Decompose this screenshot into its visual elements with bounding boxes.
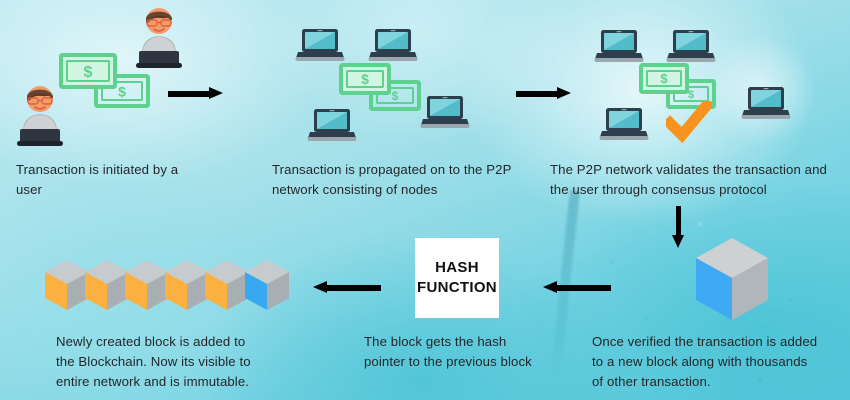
arrow-step3-to-step4	[672, 206, 684, 248]
laptop-icon	[295, 27, 345, 63]
chain-cube	[205, 260, 249, 310]
arrow-step5-to-step6	[313, 281, 381, 293]
hash-function-box: HASH FUNCTION	[415, 238, 499, 318]
step-4-caption: Once verified the transaction is added t…	[592, 332, 850, 392]
step-1-group: $ $	[0, 0, 260, 160]
arrow-shaft	[676, 206, 681, 238]
chain-cube	[85, 260, 129, 310]
laptop-icon	[666, 28, 716, 64]
laptop-icon	[420, 94, 470, 130]
step-2-group: $ $	[283, 0, 533, 160]
cube-3d-icon	[692, 236, 772, 327]
chain-cube	[45, 260, 89, 310]
svg-text:$: $	[118, 84, 126, 100]
arrow-step4-to-step5	[543, 281, 611, 293]
step-2-caption: Transaction is propagated on to the P2P …	[272, 160, 542, 200]
arrow-shaft	[554, 285, 611, 291]
laptop-icon	[741, 85, 791, 121]
svg-text:$: $	[361, 71, 369, 87]
svg-text:$: $	[84, 64, 93, 81]
money-banknotes-icon: $ $	[58, 52, 152, 115]
svg-text:$: $	[660, 71, 668, 86]
infographic-canvas: $ $ Transaction is initiate	[0, 0, 850, 400]
arrow-shaft	[324, 285, 381, 291]
step-5-caption: The block gets the hash pointer to the p…	[364, 332, 574, 372]
person-with-laptop-icon	[14, 84, 66, 146]
arrow-shaft	[168, 91, 212, 97]
arrow-step2-to-step3	[516, 87, 571, 99]
arrow-step1-to-step2	[168, 87, 223, 99]
hash-function-line-2: FUNCTION	[417, 278, 497, 298]
arrow-head	[672, 235, 684, 248]
step-4-group	[692, 236, 772, 327]
laptop-icon	[307, 107, 357, 143]
chain-cube	[125, 260, 169, 310]
arrow-shaft	[516, 91, 560, 97]
step-3-group: $ $	[566, 0, 850, 160]
laptop-icon	[368, 27, 418, 63]
step-3-caption: The P2P network validates the transactio…	[550, 160, 850, 200]
hash-function-line-1: HASH	[435, 258, 479, 278]
step-1-caption: Transaction is initiated by a user	[16, 160, 256, 200]
laptop-icon	[599, 106, 649, 142]
arrow-head	[209, 87, 223, 99]
chain-cube-new	[245, 260, 289, 310]
check-mark-icon	[666, 101, 712, 148]
step-6-caption: Newly created block is added to the Bloc…	[56, 332, 306, 392]
chain-cube	[165, 260, 209, 310]
blockchain-cubes-icon	[42, 252, 292, 316]
laptop-icon	[594, 28, 644, 64]
svg-text:$: $	[392, 89, 399, 103]
